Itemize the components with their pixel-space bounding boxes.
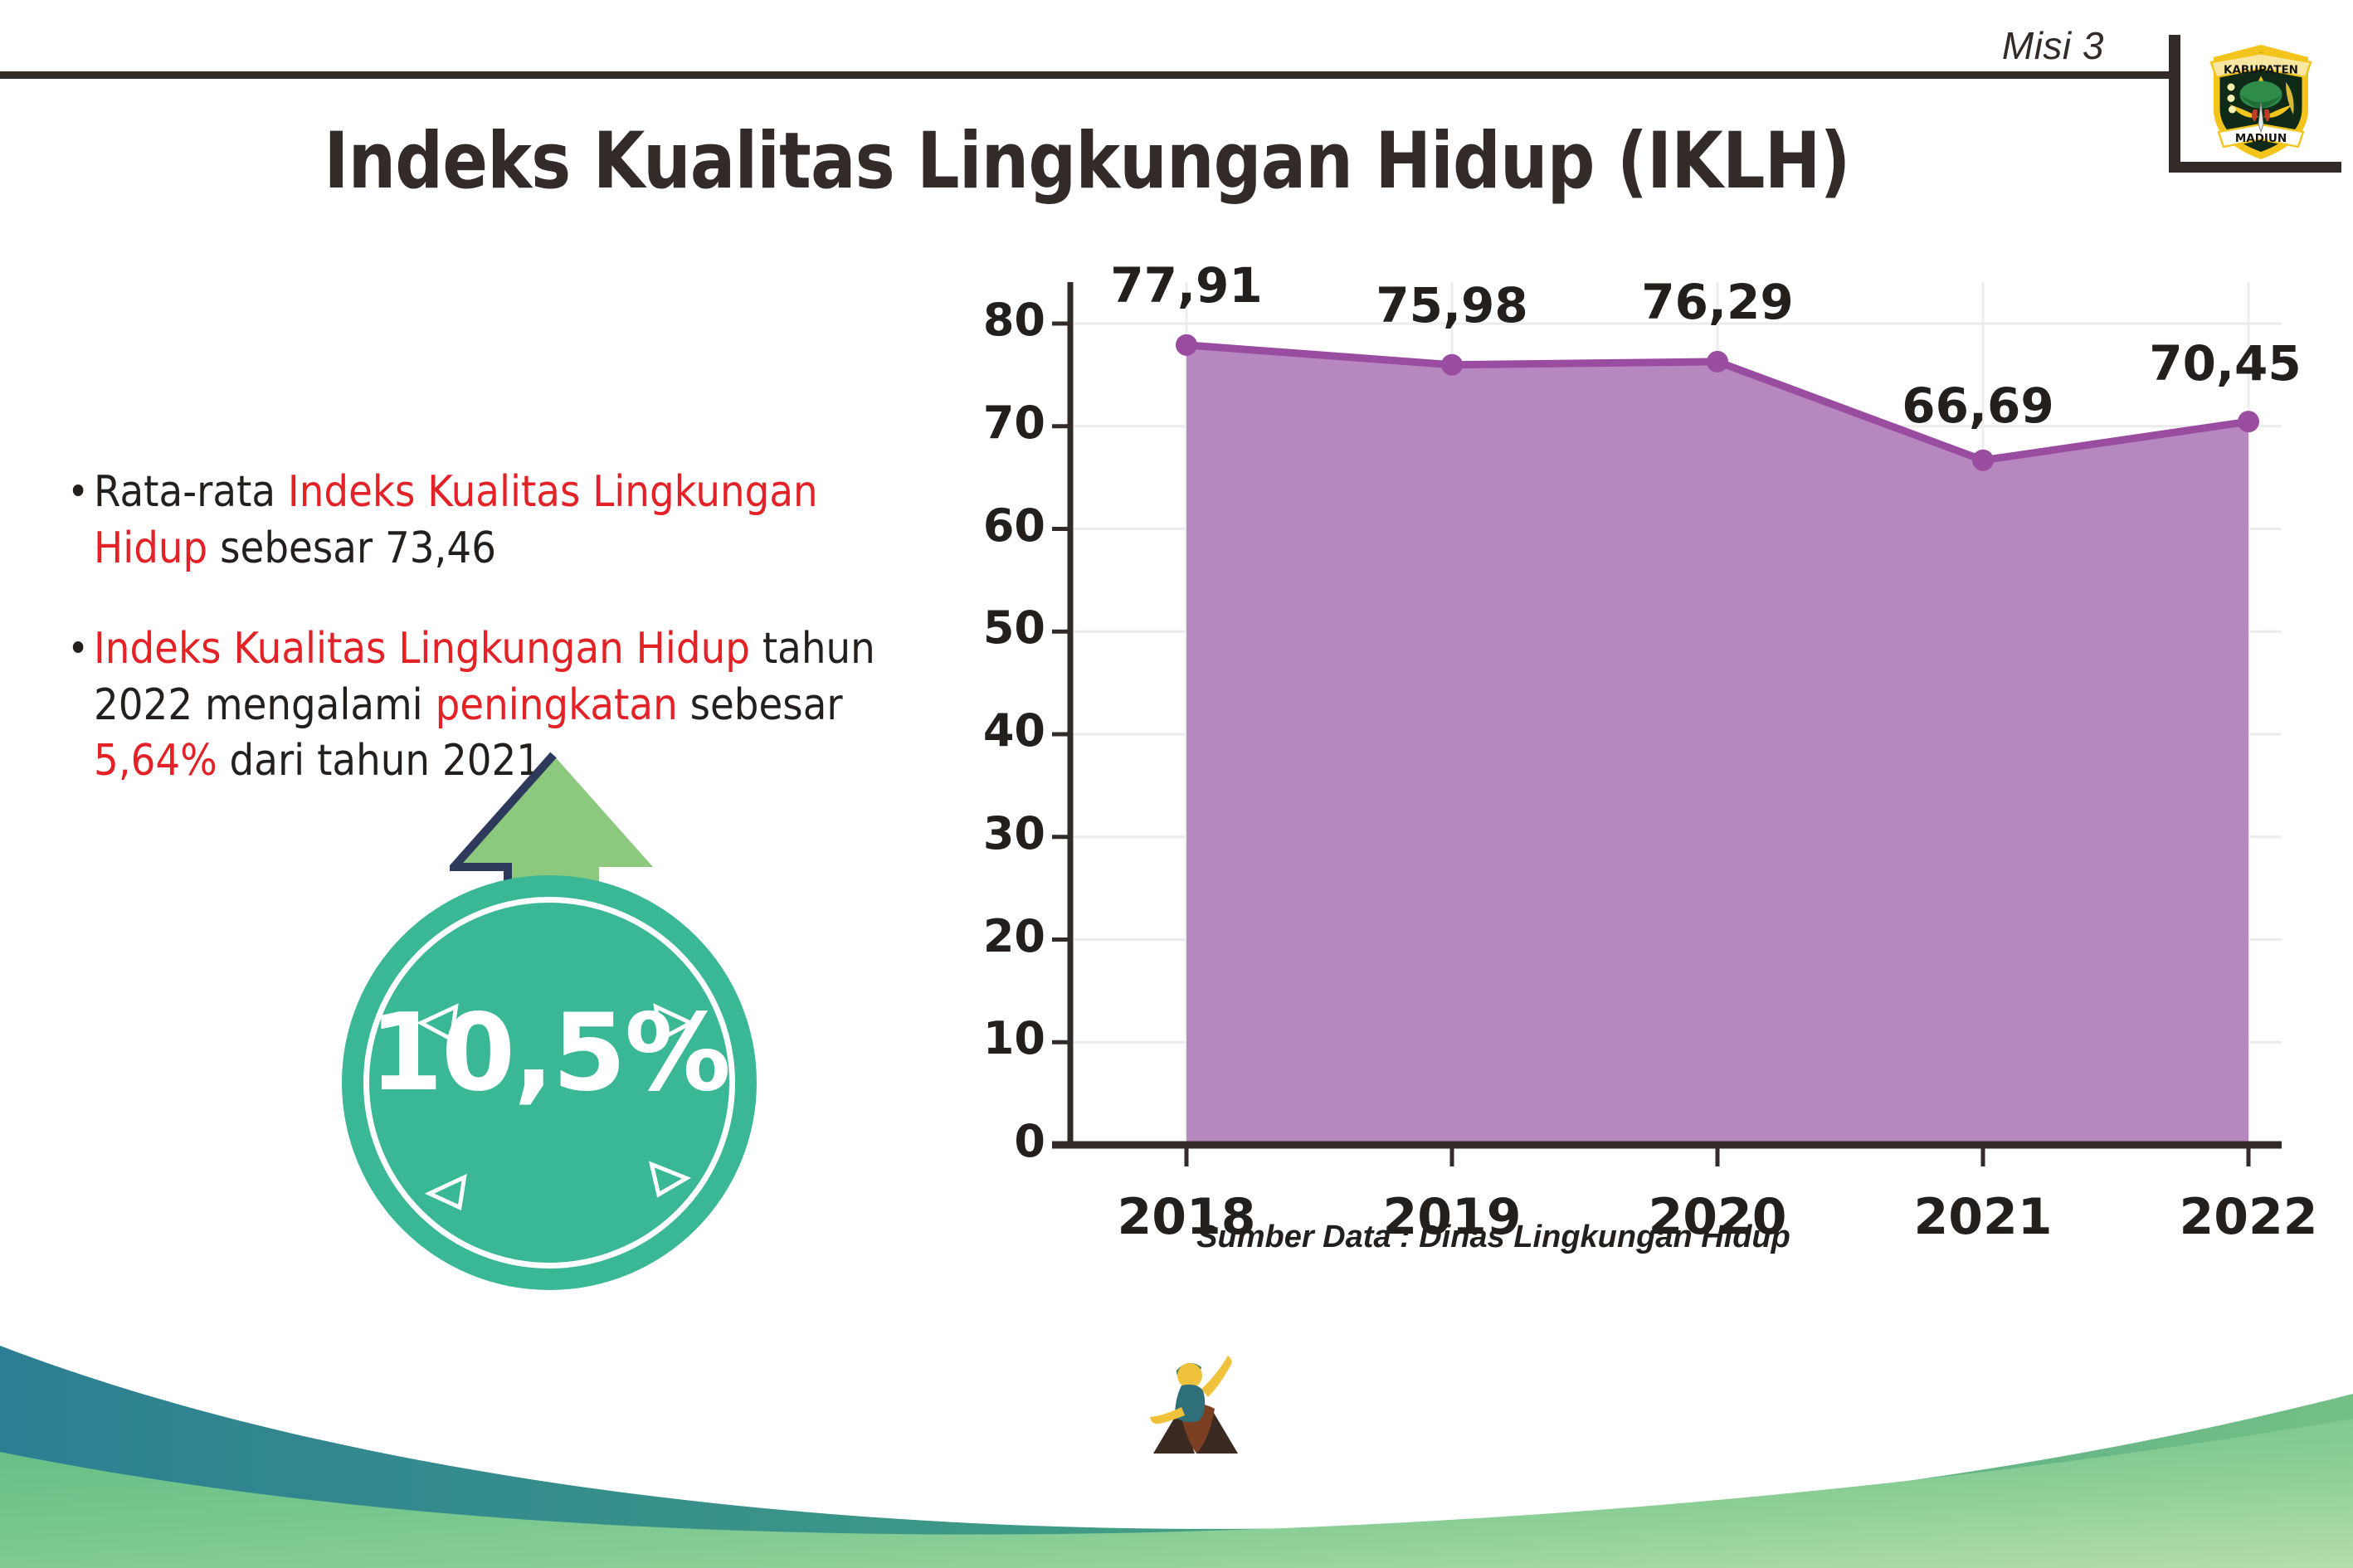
y-axis-label: 30 — [946, 807, 1045, 859]
increase-badge: 10,5% — [325, 751, 773, 1215]
data-point-marker — [2238, 411, 2259, 432]
chart-area-fill — [1186, 345, 2248, 1145]
plain-text: Rata-rata — [94, 467, 288, 517]
bullet-dot-icon — [73, 485, 84, 496]
y-axis-label: 40 — [946, 704, 1045, 757]
highlighted-text: Indeks Kualitas Lingkungan Hidup — [94, 624, 750, 674]
y-axis-label: 50 — [946, 601, 1045, 654]
svg-text:MADIUN: MADIUN — [2235, 132, 2287, 145]
data-point-marker — [1176, 334, 1197, 356]
data-value-label: 75,98 — [1352, 277, 1552, 334]
plain-text: sebesar — [678, 680, 843, 730]
data-point-marker — [1441, 354, 1463, 376]
bullet-dot-icon — [73, 641, 84, 653]
data-point-marker — [1972, 450, 1994, 471]
chart-canvas — [954, 274, 2298, 1203]
statistik-figure-logo-icon — [1145, 1337, 1245, 1462]
page-title: Indeks Kualitas Lingkungan Hidup (IKLH) — [152, 116, 2021, 207]
bullet-item: Rata-rata Indeks Kualitas Lingkungan Hid… — [71, 465, 908, 577]
x-axis-label: 2022 — [2149, 1188, 2348, 1246]
badge-triangle-icon — [425, 1166, 471, 1212]
data-point-marker — [1707, 351, 1728, 373]
y-axis-label: 0 — [946, 1115, 1045, 1167]
badge-value: 10,5% — [342, 991, 757, 1115]
header-divider — [0, 71, 2174, 79]
data-value-label: 76,29 — [1618, 274, 1817, 330]
y-axis-label: 70 — [946, 397, 1045, 449]
chart-source-note: Sumber Data : Dinas Lingkungan Hidup — [954, 1220, 2033, 1255]
y-axis-label: 80 — [946, 294, 1045, 346]
y-axis-label: 10 — [946, 1012, 1045, 1064]
y-axis-label: 60 — [946, 499, 1045, 552]
data-value-label: 70,45 — [2126, 335, 2325, 392]
highlighted-text: 5,64% — [94, 736, 217, 786]
svg-text:KABUPATEN: KABUPATEN — [2224, 64, 2298, 77]
y-axis-label: 20 — [946, 910, 1045, 962]
bracket-vertical-bar — [2169, 35, 2180, 164]
bullet-text: Rata-rata Indeks Kualitas Lingkungan Hid… — [94, 467, 818, 573]
kabupaten-madiun-crest-icon: KABUPATEN MADIUN — [2199, 40, 2323, 164]
logo-bracket: KABUPATEN MADIUN — [2169, 35, 2353, 173]
data-value-label: 77,91 — [1087, 257, 1286, 314]
plain-text: sebesar 73,46 — [207, 523, 496, 573]
misi-label: Misi 3 — [2002, 23, 2104, 68]
data-value-label: 66,69 — [1878, 377, 2078, 434]
badge-triangle-icon — [645, 1157, 691, 1204]
iklh-area-chart: 01020304050607080 20182019202020212022 7… — [954, 274, 2298, 1203]
highlighted-text: peningkatan — [436, 680, 678, 730]
